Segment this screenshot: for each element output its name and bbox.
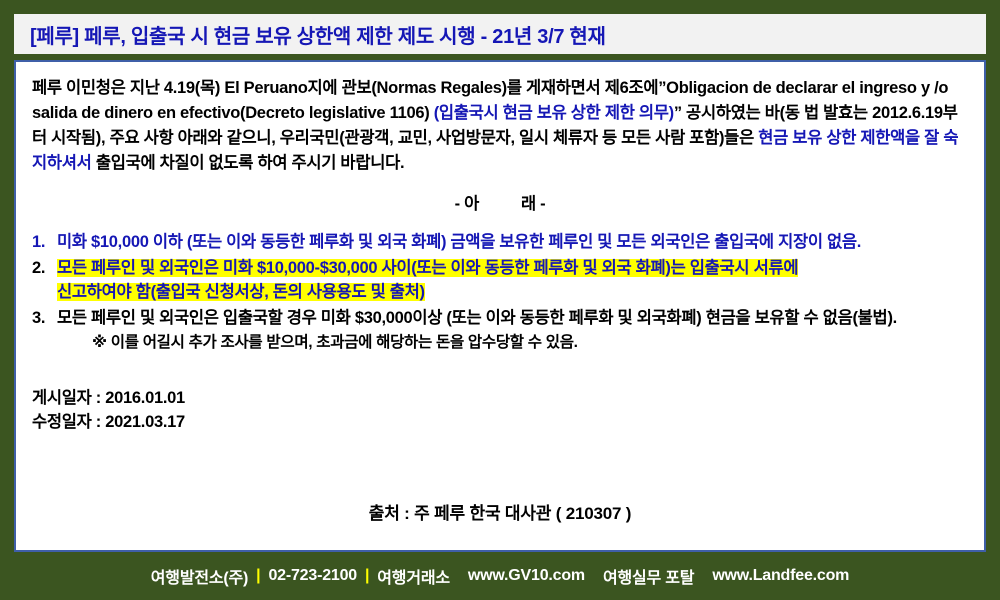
warning-note: ※ 이를 어길시 추가 조사를 받으며, 초과금에 해당하는 돈을 압수당할 수…: [92, 332, 968, 354]
footer-content: 여행발전소(주) | 02-723-2100 | 여행거래소 www.GV10.…: [151, 564, 849, 588]
footer-link-landfee[interactable]: www.Landfee.com: [712, 567, 849, 585]
footer-company: 여행발전소(주): [151, 564, 248, 588]
divider-left: - 아: [455, 195, 479, 213]
footer-phone[interactable]: 02-723-2100: [268, 567, 357, 585]
revision-date: 수정일자 : 2021.03.17: [32, 410, 968, 434]
footer-link-gv10[interactable]: www.GV10.com: [468, 567, 585, 585]
list-item-text: 모든 페루인 및 외국인은 입출국할 경우 미화 $30,000이상 (또는 이…: [57, 309, 897, 327]
intro-segment-5: 출입국에 차질이 없도록 하여 주시기 바랍니다.: [92, 154, 405, 172]
list-item-text-highlighted-line2: 신고하여야 함(출입국 신청서상, 돈의 사용용도 및 출처): [57, 283, 425, 301]
list-item-number: 1.: [32, 230, 45, 254]
intro-segment-blue-1: (입출국시 현금 보유 상한 제한 의무): [434, 104, 674, 122]
list-item-text-highlighted-line1: 모든 페루인 및 외국인은 미화 $10,000-$30,000 사이(또는 이…: [57, 259, 798, 277]
intro-paragraph: 페루 이민청은 지난 4.19(목) El Peruano지에 관보(Norma…: [32, 76, 968, 176]
content-panel: 페루 이민청은 지난 4.19(목) El Peruano지에 관보(Norma…: [14, 60, 986, 552]
post-date: 게시일자 : 2016.01.01: [32, 386, 968, 410]
list-item-number: 3.: [32, 306, 45, 330]
poster-root: [페루] 페루, 입출국 시 현금 보유 상한액 제한 제도 시행 - 21년 …: [0, 0, 1000, 600]
section-divider: - 아래 -: [32, 190, 968, 214]
footer-label-portal: 여행실무 포탈: [603, 564, 694, 588]
list-item-text: 미화 $10,000 이하 (또는 이와 동등한 페루화 및 외국 화폐) 금액…: [57, 233, 861, 251]
source-line: 출처 : 주 페루 한국 대사관 ( 210307 ): [32, 499, 968, 524]
title-bar: [페루] 페루, 입출국 시 현금 보유 상한액 제한 제도 시행 - 21년 …: [14, 14, 986, 54]
list-item: 1.미화 $10,000 이하 (또는 이와 동등한 페루화 및 외국 화폐) …: [32, 230, 968, 254]
page-title: [페루] 페루, 입출국 시 현금 보유 상한액 제한 제도 시행 - 21년 …: [30, 20, 606, 49]
footer-label-marketplace: 여행거래소: [377, 564, 450, 588]
footer-separator-1: |: [256, 567, 260, 585]
list-item-number: 2.: [32, 256, 45, 280]
dates-block: 게시일자 : 2016.01.01 수정일자 : 2021.03.17: [32, 386, 968, 434]
rules-list: 1.미화 $10,000 이하 (또는 이와 동등한 페루화 및 외국 화폐) …: [32, 230, 968, 330]
footer-separator-2: |: [365, 567, 369, 585]
list-item: 2.모든 페루인 및 외국인은 미화 $10,000-$30,000 사이(또는…: [32, 256, 968, 304]
list-item: 3.모든 페루인 및 외국인은 입출국할 경우 미화 $30,000이상 (또는…: [32, 306, 968, 330]
divider-right: 래 -: [521, 195, 545, 213]
footer-bar: 여행발전소(주) | 02-723-2100 | 여행거래소 www.GV10.…: [0, 552, 1000, 600]
